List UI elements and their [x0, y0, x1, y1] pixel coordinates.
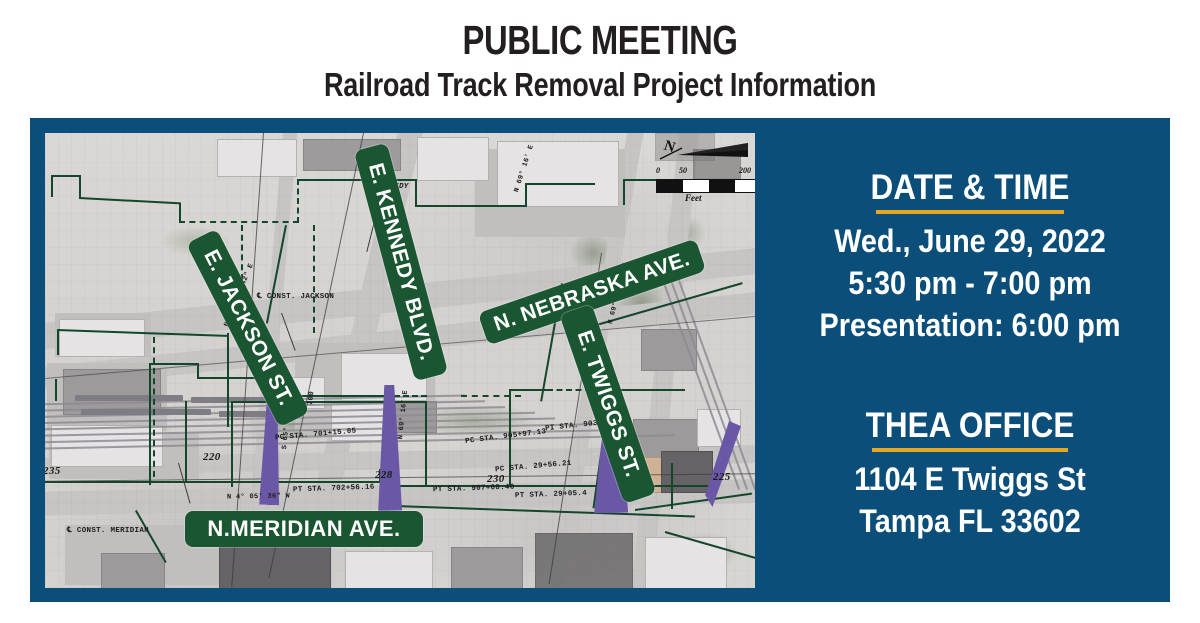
- map-annotation: ℄ CONST. JACKSON: [257, 291, 334, 301]
- scale-seg: [657, 180, 683, 192]
- location-underline: [872, 448, 1068, 452]
- page-title: PUBLIC MEETING: [120, 16, 1080, 64]
- row-line: [51, 175, 53, 197]
- row-line: [671, 463, 673, 509]
- row-line: [231, 401, 233, 487]
- scale-tick-200: 200: [739, 166, 751, 175]
- row-dash: [153, 337, 155, 477]
- row-line: [51, 175, 81, 177]
- date-time-heading: DATE & TIME: [790, 168, 1150, 208]
- row-dash: [297, 179, 299, 223]
- location-group: THEA OFFICE 1104 E Twiggs St Tampa FL 33…: [770, 406, 1170, 542]
- row-line: [425, 401, 427, 487]
- location-heading: THEA OFFICE: [790, 406, 1150, 446]
- row-dash: [313, 225, 315, 333]
- north-arrow-icon: N: [656, 139, 752, 165]
- row-line: [55, 379, 57, 401]
- row-line: [231, 401, 427, 403]
- street-label-meridian: N.MERIDIAN AVE.: [185, 511, 423, 547]
- row-line: [525, 183, 595, 185]
- scale-seg: [735, 180, 755, 192]
- row-line: [149, 363, 151, 485]
- row-line: [623, 179, 625, 205]
- scale-bar: [656, 179, 755, 193]
- scale-tick-50: 50: [679, 166, 687, 175]
- map-station-number: 228: [375, 469, 393, 481]
- row-line: [79, 175, 81, 199]
- page-subtitle: Railroad Track Removal Project Informati…: [108, 64, 1092, 106]
- scale-seg: [709, 180, 735, 192]
- row-line: [185, 401, 187, 483]
- row-dash: [179, 221, 299, 223]
- map-inner: 695 N 65° 59' 42" E 700 N 69° 16' E KENN…: [45, 133, 755, 588]
- date-line: Wed., June 29, 2022: [790, 220, 1150, 262]
- map-annotation: N 4° 05' 36" W: [227, 492, 290, 501]
- info-column: DATE & TIME Wed., June 29, 2022 5:30 pm …: [770, 120, 1170, 602]
- map-station-number: 235: [45, 465, 61, 477]
- map-annotation: 700: [307, 391, 316, 406]
- scale-seg: [683, 180, 709, 192]
- row-line: [525, 183, 527, 207]
- date-time-group: DATE & TIME Wed., June 29, 2022 5:30 pm …: [770, 168, 1170, 346]
- map-station-number: 220: [203, 451, 221, 463]
- project-map: 695 N 65° 59' 42" E 700 N 69° 16' E KENN…: [45, 133, 755, 588]
- scale-units-label: Feet: [685, 193, 702, 203]
- row-line: [415, 205, 527, 207]
- address-line-1: 1104 E Twiggs St: [790, 458, 1150, 500]
- row-line: [415, 179, 417, 207]
- time-line: 5:30 pm - 7:00 pm: [790, 262, 1150, 304]
- date-time-underline: [876, 210, 1064, 214]
- row-line: [227, 381, 229, 427]
- row-line: [381, 485, 711, 487]
- row-line: [227, 333, 229, 383]
- row-line: [45, 481, 381, 483]
- row-line: [57, 329, 59, 355]
- scale-tick-0: 0: [656, 166, 660, 175]
- map-station-number: 225: [713, 471, 731, 483]
- row-dash: [461, 395, 521, 397]
- presentation-line: Presentation: 6:00 pm: [790, 304, 1150, 346]
- row-line: [297, 179, 417, 181]
- row-line: [179, 203, 181, 221]
- map-station-number: 230: [487, 473, 505, 485]
- address-line-2: Tampa FL 33602: [790, 500, 1150, 542]
- flyer-canvas: PUBLIC MEETING Railroad Track Removal Pr…: [0, 0, 1200, 623]
- title-block: PUBLIC MEETING Railroad Track Removal Pr…: [0, 16, 1200, 106]
- map-annotation: ℄ CONST. MERIDIAN: [67, 525, 149, 535]
